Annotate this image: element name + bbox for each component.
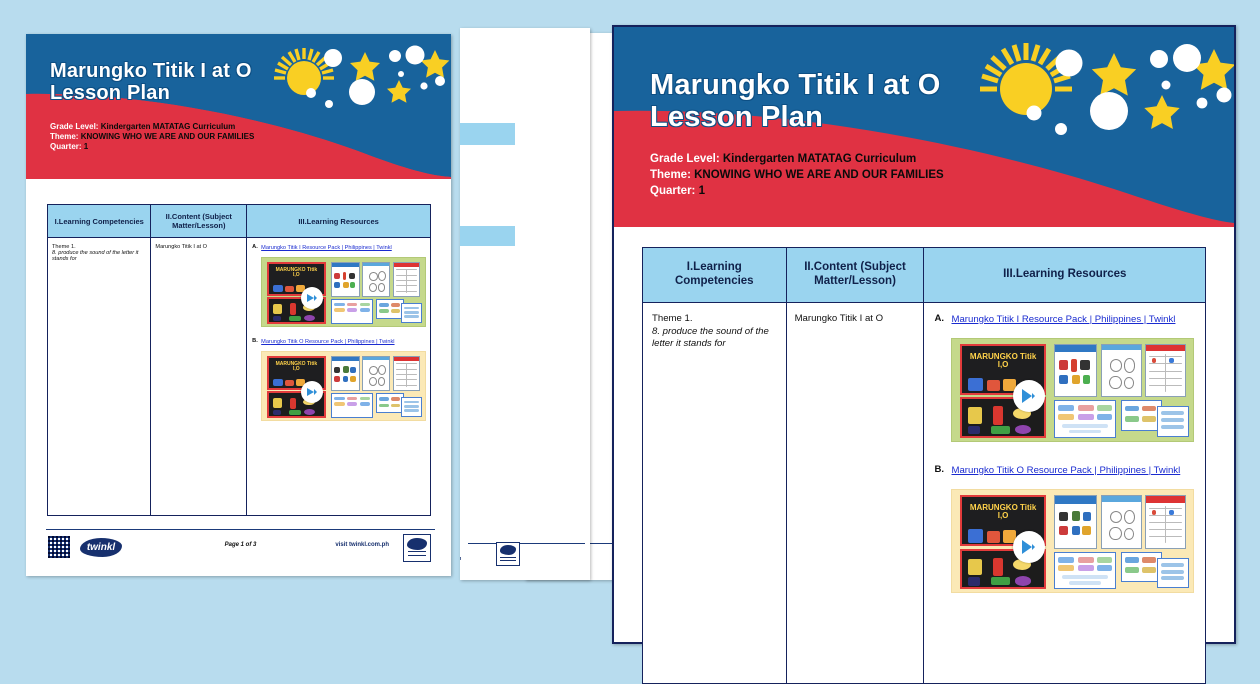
thumb-tile-cards-2 bbox=[1121, 400, 1162, 431]
cell-learning-competencies: Theme 1. 8. produce the sound of the let… bbox=[48, 238, 151, 516]
play-button-icon[interactable] bbox=[1013, 380, 1045, 412]
resource-thumbnail-b[interactable]: MARUNGKO Titik I,O bbox=[951, 489, 1194, 593]
page-title-small: Marungko Titik I at O Lesson Plan bbox=[50, 60, 252, 105]
thumb-tile-chart bbox=[1145, 344, 1186, 397]
meta-block-large: Grade Level: Kindergarten MATATAG Curric… bbox=[650, 152, 944, 198]
meta-value: Kindergarten MATATAG Curriculum bbox=[101, 122, 236, 131]
background-page-mid-bar bbox=[460, 226, 515, 246]
lesson-plan-table-large: I.Learning Competencies II.Content (Subj… bbox=[642, 247, 1206, 684]
play-button-icon[interactable] bbox=[301, 287, 323, 309]
thumb-tile-cards-1 bbox=[331, 299, 373, 324]
meta-label: Theme: bbox=[50, 132, 78, 141]
meta-value: Kindergarten MATATAG Curriculum bbox=[723, 153, 916, 165]
lesson-plan-page-small[interactable]: Marungko Titik I at O Lesson Plan Grade … bbox=[26, 34, 451, 576]
thumb-caption: MARUNGKO Titik I,O bbox=[272, 362, 320, 372]
thumb-tile-wordcards bbox=[401, 397, 422, 417]
philippine-flag-decoration bbox=[26, 34, 451, 179]
thumb-tile-chart bbox=[393, 356, 421, 391]
thumb-tile-worksheet-2 bbox=[1101, 495, 1142, 548]
thumb-tile-chart bbox=[1145, 495, 1186, 548]
resource-entry-b[interactable]: B. Marungko Titik O Resource Pack | Phil… bbox=[934, 464, 1195, 478]
thumb-tile-worksheet-1 bbox=[331, 356, 360, 391]
resource-entry-b[interactable]: B. Marungko Titik O Resource Pack | Phil… bbox=[252, 338, 425, 346]
lesson-table-wrapper-large: I.Learning Competencies II.Content (Subj… bbox=[642, 247, 1206, 684]
resource-link-a[interactable]: Marungko Titik I Resource Pack | Philipp… bbox=[261, 244, 392, 252]
background-visit-text: kl.com.ph bbox=[460, 556, 461, 562]
page-header-banner-large: Marungko Titik I at O Lesson Plan Grade … bbox=[614, 27, 1234, 227]
cell-learning-resources: A. Marungko Titik I Resource Pack | Phil… bbox=[924, 302, 1206, 683]
title-line-2: Lesson Plan bbox=[50, 82, 252, 104]
thumb-tile-cards-2 bbox=[1121, 552, 1162, 583]
column-header-content: II.Content (Subject Matter/Lesson) bbox=[151, 205, 247, 238]
resource-thumbnail-b[interactable]: MARUNGKO Titik I,O bbox=[261, 351, 426, 421]
column-header-learning-competencies: I.Learning Competencies bbox=[48, 205, 151, 238]
column-header-learning-resources: III.Learning Resources bbox=[924, 248, 1206, 303]
column-header-content: II.Content (Subject Matter/Lesson) bbox=[786, 248, 924, 303]
background-page-header-bar bbox=[460, 123, 515, 145]
lesson-plan-page-large[interactable]: Marungko Titik I at O Lesson Plan Grade … bbox=[612, 25, 1236, 644]
competency-theme: Theme 1. bbox=[652, 313, 693, 324]
resource-entry-a[interactable]: A. Marungko Titik I Resource Pack | Phil… bbox=[252, 244, 425, 252]
meta-grade-level: Grade Level: Kindergarten MATATAG Curric… bbox=[50, 122, 254, 132]
thumb-tile-worksheet-1 bbox=[331, 262, 360, 297]
meta-value: KNOWING WHO WE ARE AND OUR FAMILIES bbox=[694, 169, 944, 181]
meta-label: Theme: bbox=[650, 169, 691, 181]
table-header-row: I.Learning Competencies II.Content (Subj… bbox=[48, 205, 431, 238]
meta-block-small: Grade Level: Kindergarten MATATAG Curric… bbox=[50, 122, 254, 151]
thumb-tile-chart bbox=[393, 262, 421, 297]
thumb-tile-worksheet-2 bbox=[362, 262, 390, 297]
title-line-1: Marungko Titik I at O bbox=[50, 60, 252, 82]
meta-quarter: Quarter: 1 bbox=[650, 184, 944, 198]
thumb-tile-worksheet-1 bbox=[1054, 344, 1097, 397]
meta-label: Quarter: bbox=[650, 185, 695, 197]
page-footer-small: twinkl Page 1 of 3 visit twinkl.com.ph bbox=[46, 529, 435, 562]
resource-thumbnail-a[interactable]: MARUNGKO Titik I,O bbox=[261, 257, 426, 327]
resource-link-b[interactable]: Marungko Titik O Resource Pack | Philipp… bbox=[951, 464, 1180, 478]
cell-learning-competencies: Theme 1. 8. produce the sound of the let… bbox=[643, 302, 787, 683]
meta-value: KNOWING WHO WE ARE AND OUR FAMILIES bbox=[81, 132, 255, 141]
meta-value: 1 bbox=[699, 185, 705, 197]
thumb-tile-cards-1 bbox=[331, 393, 373, 418]
meta-label: Grade Level: bbox=[650, 153, 720, 165]
resource-letter: A. bbox=[934, 313, 951, 324]
twinkl-stamp-icon bbox=[403, 534, 431, 562]
visit-link[interactable]: visit twinkl.com.ph bbox=[335, 542, 389, 548]
resource-entry-a[interactable]: A. Marungko Titik I Resource Pack | Phil… bbox=[934, 313, 1195, 327]
thumb-tile-worksheet-1 bbox=[1054, 495, 1097, 548]
meta-label: Quarter: bbox=[50, 142, 82, 151]
table-row: Theme 1. 8. produce the sound of the let… bbox=[48, 238, 431, 516]
resource-link-a[interactable]: Marungko Titik I Resource Pack | Philipp… bbox=[951, 313, 1175, 327]
background-page-footer-rule bbox=[468, 543, 585, 544]
meta-quarter: Quarter: 1 bbox=[50, 142, 254, 152]
twinkl-stamp-icon bbox=[496, 542, 520, 566]
play-button-icon[interactable] bbox=[301, 381, 323, 403]
thumb-caption: MARUNGKO Titik I,O bbox=[967, 353, 1040, 369]
page-header-banner-small: Marungko Titik I at O Lesson Plan Grade … bbox=[26, 34, 451, 179]
cell-learning-resources: A. Marungko Titik I Resource Pack | Phil… bbox=[247, 238, 431, 516]
cell-content: Marungko Titik I at O bbox=[786, 302, 924, 683]
resource-thumbnail-a[interactable]: MARUNGKO Titik I,O bbox=[951, 338, 1194, 442]
thumb-caption: MARUNGKO Titik I,O bbox=[272, 268, 320, 278]
cell-content: Marungko Titik I at O bbox=[151, 238, 247, 516]
table-header-row: I.Learning Competencies II.Content (Subj… bbox=[643, 248, 1206, 303]
lesson-plan-table-small: I.Learning Competencies II.Content (Subj… bbox=[47, 204, 431, 516]
meta-label: Grade Level: bbox=[50, 122, 98, 131]
column-header-learning-competencies: I.Learning Competencies bbox=[643, 248, 787, 303]
thumb-tile-worksheet-2 bbox=[362, 356, 390, 391]
page-title-large: Marungko Titik I at O Lesson Plan bbox=[650, 69, 940, 134]
table-row: Theme 1. 8. produce the sound of the let… bbox=[643, 302, 1206, 683]
title-line-1: Marungko Titik I at O bbox=[650, 69, 940, 101]
meta-value: 1 bbox=[84, 142, 88, 151]
resource-link-b[interactable]: Marungko Titik O Resource Pack | Philipp… bbox=[261, 338, 394, 346]
thumb-tile-wordcards bbox=[1157, 406, 1188, 437]
thumb-tile-worksheet-2 bbox=[1101, 344, 1142, 397]
play-button-icon[interactable] bbox=[1013, 531, 1045, 563]
thumb-tile-cards-1 bbox=[1054, 400, 1117, 438]
meta-theme: Theme: KNOWING WHO WE ARE AND OUR FAMILI… bbox=[50, 132, 254, 142]
thumb-tile-cards-1 bbox=[1054, 552, 1117, 590]
meta-theme: Theme: KNOWING WHO WE ARE AND OUR FAMILI… bbox=[650, 168, 944, 182]
title-line-2: Lesson Plan bbox=[650, 101, 940, 133]
thumb-tile-wordcards bbox=[401, 303, 422, 323]
resource-letter: B. bbox=[934, 464, 951, 475]
resource-letter: A. bbox=[252, 244, 261, 250]
column-header-learning-resources: III.Learning Resources bbox=[247, 205, 431, 238]
resource-letter: B. bbox=[252, 338, 261, 344]
background-page-2: lan ngayong yo bang kl.com.ph bbox=[460, 28, 590, 580]
competency-detail: 8. produce the sound of the letter it st… bbox=[652, 326, 777, 352]
lesson-table-wrapper-small: I.Learning Competencies II.Content (Subj… bbox=[47, 204, 431, 516]
meta-grade-level: Grade Level: Kindergarten MATATAG Curric… bbox=[650, 152, 944, 166]
competency-detail: 8. produce the sound of the letter it st… bbox=[52, 250, 146, 262]
thumb-caption: MARUNGKO Titik I,O bbox=[967, 504, 1040, 520]
thumb-tile-wordcards bbox=[1157, 558, 1188, 589]
